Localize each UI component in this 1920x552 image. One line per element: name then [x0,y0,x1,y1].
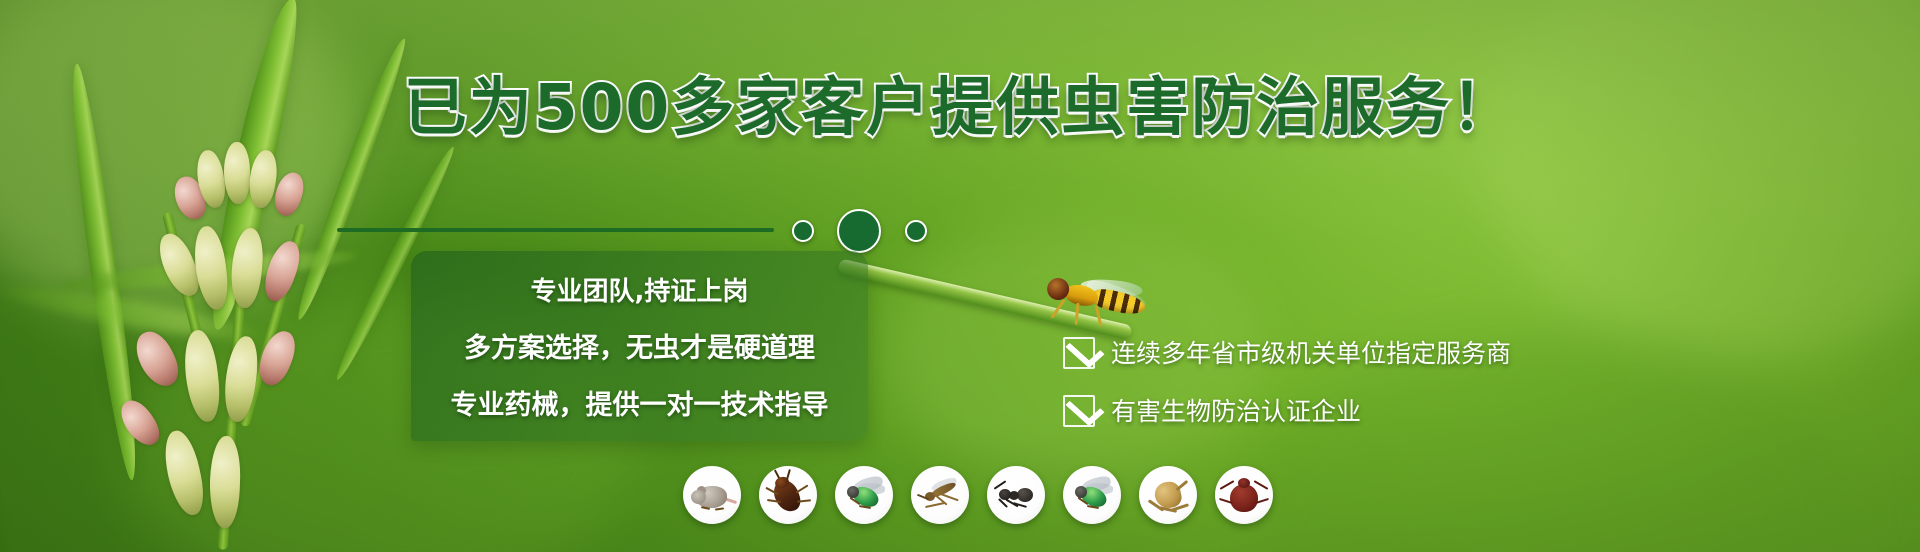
seed-bud [181,329,222,424]
fly-head [847,486,859,498]
bedbug-head [1238,478,1250,488]
bedbug-icon[interactable] [1215,466,1273,524]
mouse-head [691,490,706,504]
mouse-icon[interactable] [683,466,741,524]
checklist-item: 有害生物防治认证企业 [1063,395,1511,427]
ant-abdomen [1017,488,1033,502]
checklist-item-label: 连续多年省市级机关单位指定服务商 [1111,341,1511,366]
cockroach-icon[interactable] [759,466,817,524]
pest-control-hero-banner: 已为500多家客户提供虫害防治服务！ 专业团队,持证上岗 多方案选择，无虫才是硬… [0,0,1920,552]
checkbox-checked-icon [1063,395,1095,427]
checklist-item-label: 有害生物防治认证企业 [1111,399,1361,424]
pest-icon-row [683,466,1273,524]
banner-headline-text: 已为500多家客户提供虫害防治服务！ [404,71,1517,144]
claim-line-3: 专业药械，提供一对一技术指导 [411,383,868,422]
bedbug-body [1230,484,1258,512]
checklist-item: 连续多年省市级机关单位指定服务商 [1063,337,1511,369]
seed-bud [159,428,208,519]
mouse-leg [715,507,724,510]
small-dot-icon [905,220,927,242]
seed-bud [208,436,241,529]
flea-leg [1176,480,1189,491]
claim-line-1: 专业团队,持证上岗 [411,271,868,308]
banner-headline: 已为500多家客户提供虫害防治服务！ [0,76,1920,139]
flea-icon[interactable] [1139,466,1197,524]
mosquito-leg [925,502,945,508]
divider-line [337,228,774,232]
large-dot-icon [837,209,881,253]
credentials-checklist: 连续多年省市级机关单位指定服务商 有害生物防治认证企业 [1063,337,1511,427]
seed-bud [129,325,185,392]
seed-bud [224,142,250,204]
grass-blade [0,160,15,552]
ant-head [999,489,1011,500]
fly-head [1075,486,1087,498]
mosquito-icon[interactable] [911,466,969,524]
ant-icon[interactable] [987,466,1045,524]
cockroach-leg [797,499,811,502]
decorative-divider-row [337,212,1077,248]
claims-list: 专业团队,持证上岗 多方案选择，无虫才是硬道理 专业药械，提供一对一技术指导 [411,251,868,441]
checkbox-checked-icon [1063,337,1095,369]
small-dot-icon [792,220,814,242]
bedbug-leg [1254,480,1269,490]
claim-line-2: 多方案选择，无虫才是硬道理 [411,326,868,365]
seed-bud [220,334,262,423]
fly-icon[interactable] [1063,466,1121,524]
fly-icon[interactable] [835,466,893,524]
